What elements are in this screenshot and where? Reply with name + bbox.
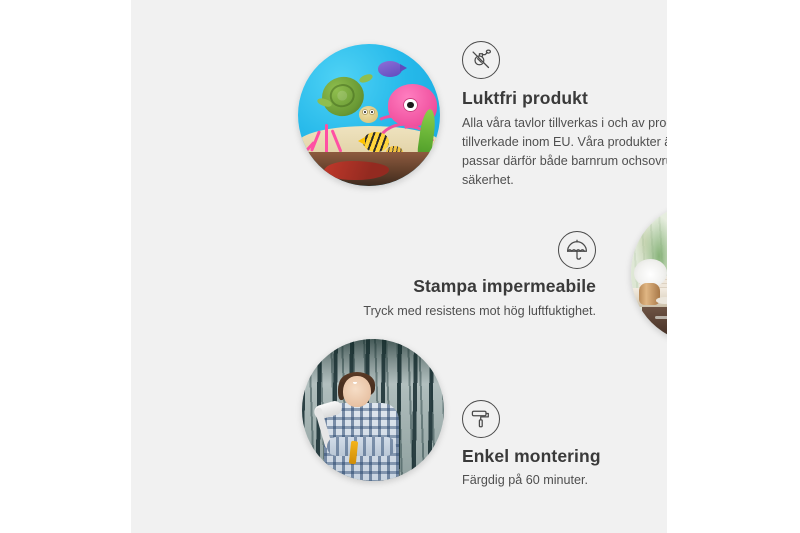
yellow-striped-fish-icon bbox=[363, 132, 389, 152]
paint-roller-icon bbox=[462, 400, 500, 438]
woman-with-paint-roller bbox=[322, 376, 404, 481]
feature-description: Färgdig på 60 minuter. bbox=[462, 471, 667, 490]
feature-image-bathroom-leaf-wallpaper[interactable] bbox=[631, 203, 667, 343]
feature-image-painter-forest-wallpaper[interactable] bbox=[302, 339, 444, 481]
octopus-eye bbox=[403, 98, 418, 112]
soap-dish bbox=[656, 297, 667, 304]
underwater-scene-illustration bbox=[298, 44, 440, 186]
feature-title: Luktfri produkt bbox=[462, 88, 667, 109]
face bbox=[343, 376, 371, 408]
wooden-vanity-cabinet bbox=[642, 307, 667, 343]
feature-block-waterproof: Stampa impermeabile Tryck med resistens … bbox=[352, 231, 596, 321]
product-feature-panel: Luktfri produkt Alla våra tavlor tillver… bbox=[131, 0, 667, 533]
feature-block-odourless: Luktfri produkt Alla våra tavlor tillver… bbox=[462, 41, 667, 191]
smile bbox=[353, 382, 357, 384]
feature-image-underwater-kids-scene[interactable] bbox=[298, 44, 440, 186]
purple-fish-icon bbox=[378, 61, 402, 77]
painter-photo bbox=[302, 339, 444, 481]
feature-block-mounting: Enkel montering Färgdig på 60 minuter. bbox=[462, 400, 667, 490]
turtle-eye bbox=[362, 109, 368, 114]
coral-branch bbox=[331, 129, 343, 152]
crossed-arms bbox=[327, 437, 396, 456]
feature-description: Tryck med resistens mot hög luftfuktighe… bbox=[352, 302, 596, 321]
screenshot-canvas: Luktfri produkt Alla våra tavlor tillver… bbox=[0, 0, 800, 533]
umbrella-rain-icon bbox=[558, 231, 596, 269]
bathroom-photo bbox=[631, 203, 667, 343]
seabed-foreground bbox=[298, 152, 440, 186]
feature-title: Enkel montering bbox=[462, 446, 667, 467]
feature-title: Stampa impermeabile bbox=[352, 276, 596, 297]
no-odour-spray-bottle-icon bbox=[462, 41, 500, 79]
feature-description: Alla våra tavlor tillverkas i och av pro… bbox=[462, 114, 667, 191]
icon-wrapper bbox=[352, 231, 596, 276]
